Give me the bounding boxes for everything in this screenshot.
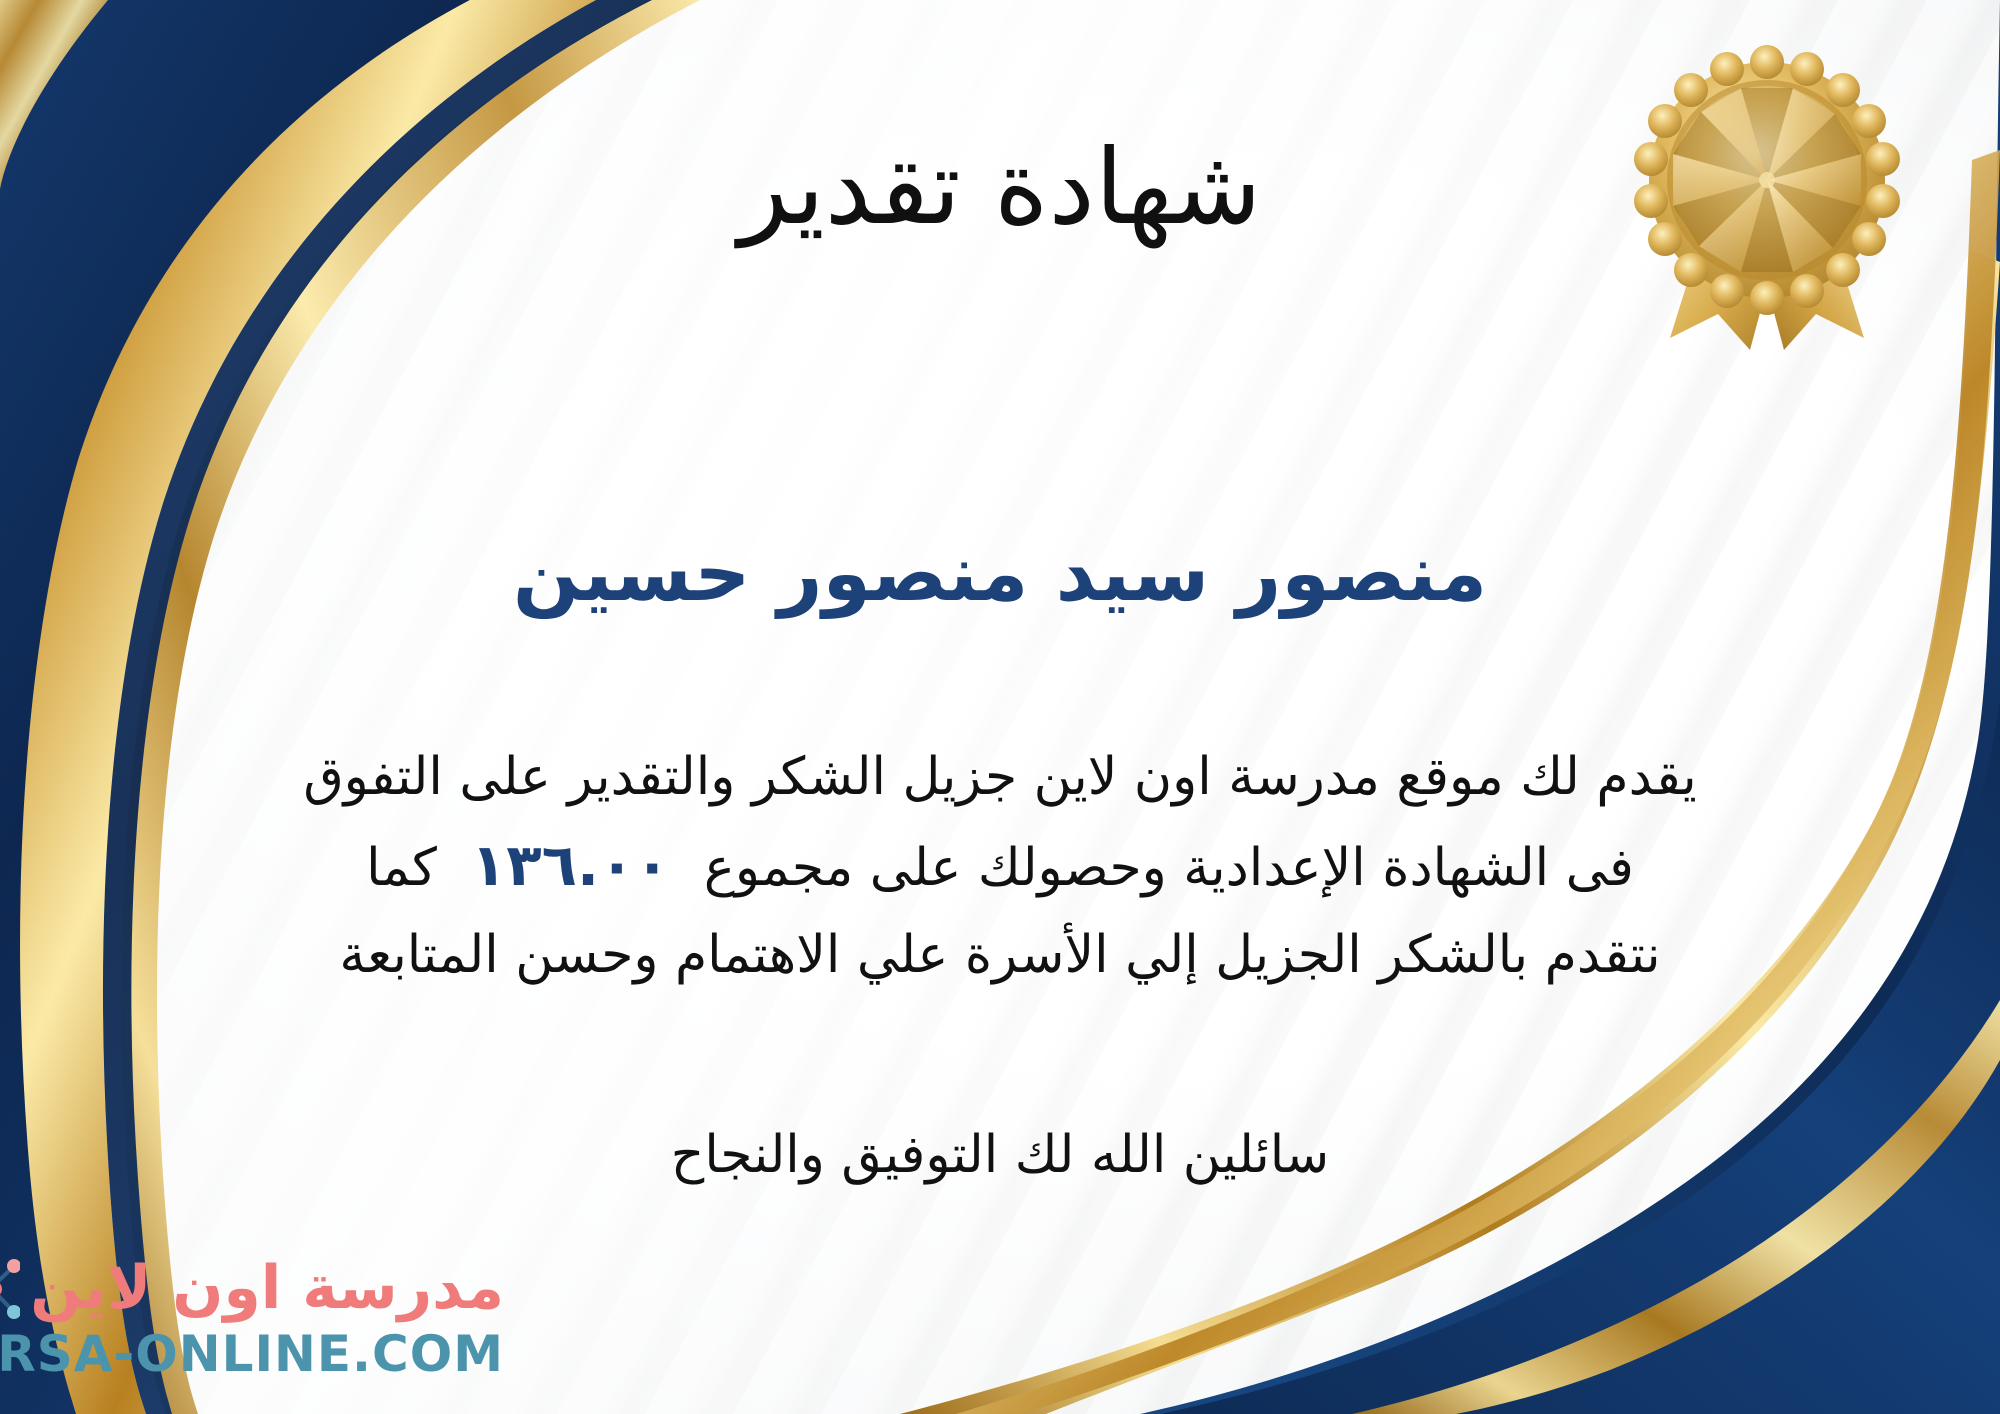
network-nodes-icon (0, 1252, 20, 1326)
page-title: شهادة تقدير (0, 128, 2000, 248)
body-line-2-suffix: كما (366, 838, 437, 898)
body-line-1: يقدم لك موقع مدرسة اون لاين جزيل الشكر و… (60, 735, 1940, 819)
body-line-2: فى الشهادة الإعدادية وحصولك على مجموع١٣٦… (60, 819, 1940, 913)
closing-line: سائلين الله لك التوفيق والنجاح (0, 1125, 2000, 1185)
brand-url[interactable]: MADRSA-ONLINE.COM (0, 1328, 504, 1381)
certificate-canvas: شهادة تقدير منصور سيد منصور حسين يقدم لك… (0, 0, 2000, 1414)
recipient-name: منصور سيد منصور حسين (0, 528, 2000, 622)
certificate-body: يقدم لك موقع مدرسة اون لاين جزيل الشكر و… (60, 735, 1940, 997)
grade-value: ١٣٦.٠٠ (437, 831, 704, 899)
brand-name-row: مدرسة اون لاين (0, 1252, 504, 1326)
body-line-2-prefix: فى الشهادة الإعدادية وحصولك على مجموع (704, 838, 1634, 898)
body-line-3: نتقدم بالشكر الجزيل إلي الأسرة علي الاهت… (60, 913, 1940, 997)
brand-arabic-name: مدرسة اون لاين (30, 1257, 504, 1320)
brand-logo[interactable]: مدرسة اون لاين MADRSA-ONLINE.C (34, 1230, 504, 1380)
